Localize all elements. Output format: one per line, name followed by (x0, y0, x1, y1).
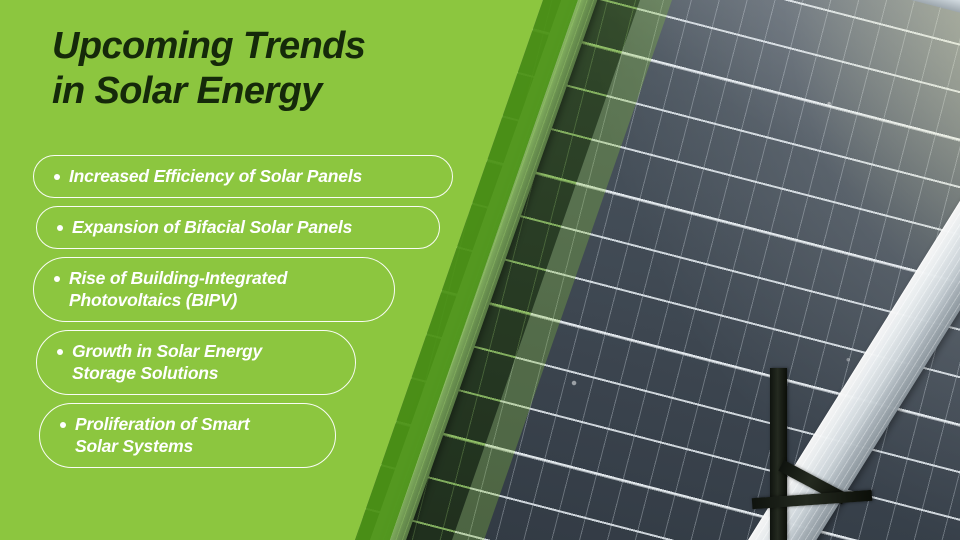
text-content-area: Upcoming Trends in Solar Energy Increase… (0, 0, 543, 540)
page-title: Upcoming Trends in Solar Energy (52, 24, 482, 114)
bullet-dot-icon (57, 225, 63, 231)
list-item-label: Growth in Solar Energy Storage Solutions (72, 340, 262, 384)
list-item-label: Expansion of Bifacial Solar Panels (72, 216, 352, 238)
bullet-dot-icon (54, 174, 60, 180)
list-item[interactable]: Increased Efficiency of Solar Panels (33, 155, 453, 198)
bullet-dot-icon (57, 349, 63, 355)
list-item[interactable]: Expansion of Bifacial Solar Panels (36, 206, 440, 249)
list-item-label: Increased Efficiency of Solar Panels (69, 165, 362, 187)
list-item[interactable]: Proliferation of Smart Solar Systems (39, 403, 336, 468)
bullet-dot-icon (60, 422, 66, 428)
list-item-label: Rise of Building-Integrated Photovoltaic… (69, 267, 287, 311)
slide-canvas: Upcoming Trends in Solar Energy Increase… (0, 0, 960, 540)
list-item-label: Proliferation of Smart Solar Systems (75, 413, 250, 457)
bullet-dot-icon (54, 276, 60, 282)
list-item[interactable]: Growth in Solar Energy Storage Solutions (36, 330, 356, 395)
trends-list: Increased Efficiency of Solar Panels Exp… (0, 155, 543, 476)
mounting-post (770, 368, 787, 540)
list-item[interactable]: Rise of Building-Integrated Photovoltaic… (33, 257, 395, 322)
